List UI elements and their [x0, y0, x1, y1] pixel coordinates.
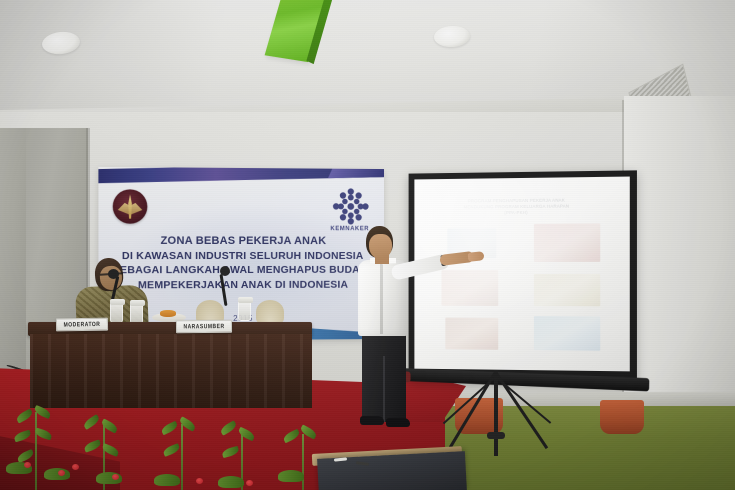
banner-title-line-3: SEBAGAI LANGKAH AWAL MENGHAPUS BUDAYA: [109, 263, 377, 278]
plant-leaf: [83, 439, 102, 452]
foreground-board: [317, 451, 467, 490]
banner-title-line-4: MEMPEKERJAKAN ANAK DI INDONESIA: [109, 278, 377, 293]
flower-icon: [246, 480, 253, 486]
ground-foliage: [44, 468, 70, 480]
plant-pot: [600, 400, 644, 434]
banner-top-band: [98, 167, 384, 183]
ministry-garuda-emblem-icon: [113, 189, 148, 223]
flower-icon: [58, 470, 65, 476]
plant-leaf: [237, 427, 256, 442]
conference-room-photo: KEMNAKER ZONA BEBAS PEKERJA ANAK DI KAWA…: [0, 0, 735, 490]
flower-icon: [24, 462, 31, 468]
nameplate-moderator: MODERATOR: [56, 318, 108, 332]
ground-foliage: [218, 476, 244, 488]
plant-leaf: [16, 449, 35, 463]
plant-leaf: [221, 446, 240, 458]
head-table-skirt: [30, 334, 312, 408]
presenter-leg-split: [383, 356, 385, 422]
nameplate-narasumber-label: NARASUMBER: [183, 323, 224, 331]
flower-icon: [72, 464, 79, 470]
flower-icon: [112, 474, 119, 480]
left-wall-panel-edge: [0, 128, 26, 390]
banner-title-line-1: ZONA BEBAS PEKERJA ANAK: [109, 234, 377, 249]
table-decor-fan: [256, 300, 284, 324]
plant-stem: [35, 412, 37, 490]
projector-screen-surface: PROGRAM PENGHAPUSAN PEKERJA ANAK MENDUKU…: [414, 177, 629, 372]
ground-foliage: [154, 474, 180, 486]
plant-stem: [302, 434, 304, 490]
nameplate-narasumber: NARASUMBER: [176, 320, 232, 333]
plant-leaf: [15, 408, 34, 423]
banner-title-line-2: DI KAWASAN INDUSTRI SELURUH INDONESIA: [109, 249, 377, 264]
drinking-glass-icon: [110, 302, 123, 323]
drinking-glass-icon: [130, 303, 143, 324]
projector-screen: PROGRAM PENGHAPUSAN PEKERJA ANAK MENDUKU…: [409, 170, 637, 383]
tripod-hub: [487, 432, 505, 439]
kemnaker-logo-icon: [331, 187, 370, 227]
screen-glare: [414, 177, 629, 372]
shirt-placket: [380, 264, 383, 334]
presenter-shoe: [386, 418, 410, 427]
presenter-face: [369, 234, 392, 259]
microphone-icon: [220, 266, 230, 276]
microphone-icon: [108, 269, 119, 279]
banner-title: ZONA BEBAS PEKERJA ANAK DI KAWASAN INDUS…: [109, 234, 377, 293]
flower-icon: [196, 478, 203, 484]
plant-stem: [181, 424, 183, 490]
tripod-center-post: [494, 370, 498, 456]
presenter-shoe: [360, 416, 384, 425]
plant-leaf: [162, 443, 181, 457]
ground-foliage: [278, 470, 304, 482]
snack-item: [160, 310, 176, 317]
nameplate-moderator-label: MODERATOR: [64, 320, 101, 328]
drinking-glass-icon: [238, 300, 251, 321]
